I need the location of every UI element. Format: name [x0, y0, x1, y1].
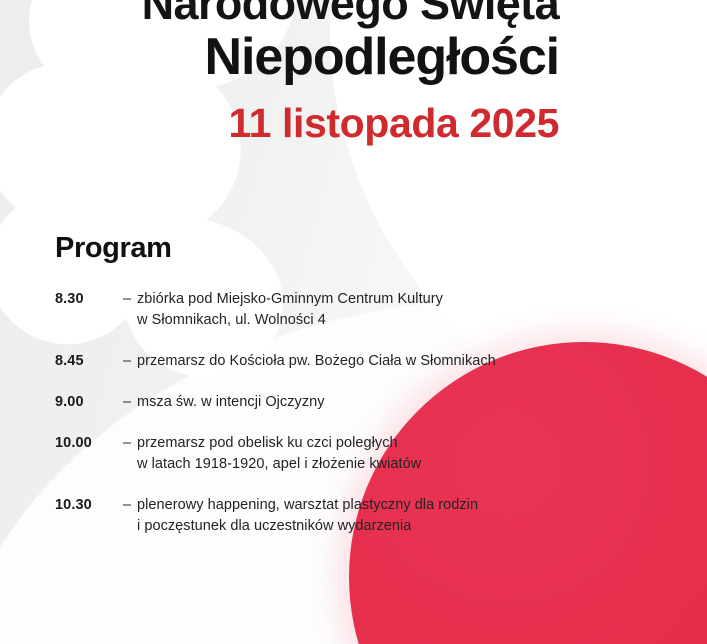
schedule-item-line2: w Słomnikach, ul. Wolności 4: [137, 310, 655, 331]
schedule-item-dash: –: [123, 289, 137, 310]
schedule-item-time: 8.45: [55, 351, 123, 372]
headline-kicker: Narodowego Święta: [0, 0, 559, 30]
schedule-item-dash: –: [123, 495, 137, 516]
schedule-item: 8.30 – zbiórka pod Miejsko-Gminnym Centr…: [55, 289, 655, 331]
schedule-item-time: 10.30: [55, 495, 123, 516]
schedule-item: 10.30 – plenerowy happening, warsztat pl…: [55, 495, 655, 537]
program-schedule-list: 8.30 – zbiórka pod Miejsko-Gminnym Centr…: [55, 289, 655, 537]
schedule-item-line1: msza św. w intencji Ojczyzny: [137, 394, 325, 410]
schedule-item-line1: zbiórka pod Miejsko-Gminnym Centrum Kult…: [137, 291, 443, 307]
headline-date: 11 listopada 2025: [0, 100, 559, 146]
schedule-item-time: 8.30: [55, 289, 123, 310]
schedule-item-description: plenerowy happening, warsztat plastyczny…: [137, 495, 655, 537]
schedule-item-time: 10.00: [55, 433, 123, 454]
schedule-item-line2: w latach 1918-1920, apel i złożenie kwia…: [137, 454, 655, 475]
schedule-item-time: 9.00: [55, 392, 123, 413]
schedule-item-description: msza św. w intencji Ojczyzny: [137, 392, 655, 413]
schedule-item: 8.45 – przemarsz do Kościoła pw. Bożego …: [55, 351, 655, 372]
headline-main-title: Niepodległości: [0, 28, 559, 86]
schedule-item-dash: –: [123, 351, 137, 372]
schedule-item-line1: przemarsz pod obelisk ku czci poległych: [137, 435, 398, 451]
schedule-item-line1: plenerowy happening, warsztat plastyczny…: [137, 497, 478, 513]
program-section: Program 8.30 – zbiórka pod Miejsko-Gminn…: [55, 231, 655, 537]
schedule-item-description: zbiórka pod Miejsko-Gminnym Centrum Kult…: [137, 289, 655, 331]
schedule-item-description: przemarsz pod obelisk ku czci poległych …: [137, 433, 655, 475]
schedule-item: 9.00 – msza św. w intencji Ojczyzny: [55, 392, 655, 413]
schedule-item-line2: i poczęstunek dla uczestników wydarzenia: [137, 516, 655, 537]
poster-headline: Narodowego Święta Niepodległości 11 list…: [0, 0, 707, 146]
poster-canvas: Narodowego Święta Niepodległości 11 list…: [0, 0, 707, 644]
schedule-item-dash: –: [123, 433, 137, 454]
program-heading: Program: [55, 231, 655, 265]
schedule-item-dash: –: [123, 392, 137, 413]
schedule-item: 10.00 – przemarsz pod obelisk ku czci po…: [55, 433, 655, 475]
schedule-item-description: przemarsz do Kościoła pw. Bożego Ciała w…: [137, 351, 655, 372]
schedule-item-line1: przemarsz do Kościoła pw. Bożego Ciała w…: [137, 353, 496, 369]
